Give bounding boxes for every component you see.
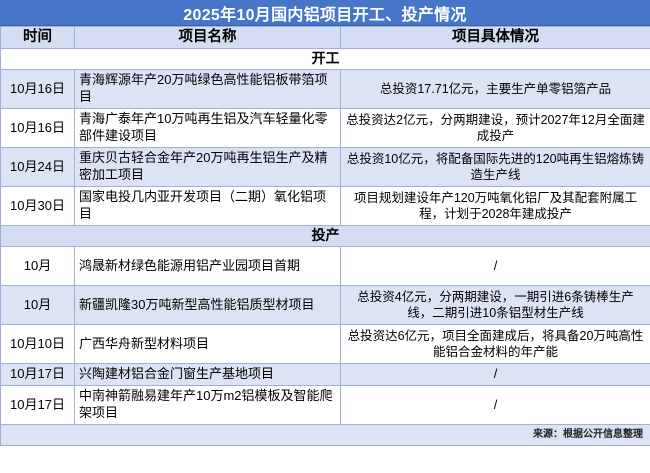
cell-project-detail: 总投资达2亿元，分两期建设，预计2027年12月全面建成投产 xyxy=(341,109,650,148)
cell-project-name: 国家电投几内亚开发项目（二期）氧化铝项目 xyxy=(75,187,341,226)
cell-time: 10月17日 xyxy=(1,364,75,386)
cell-project-detail: 总投资4亿元，分两期建设，一期引进6条铸棒生产线，二期引进10条铝型材生产线 xyxy=(341,286,650,325)
cell-project-detail: / xyxy=(341,364,650,386)
table-row: 10月10日 广西华舟新型材料项目 总投资达6亿元，项目全面建成后，将具备20万… xyxy=(1,325,650,364)
table-row: 10月 新疆凯隆30万吨新型高性能铝质型材项目 总投资4亿元，分两期建设，一期引… xyxy=(1,286,650,325)
section-header-start: 开工 xyxy=(1,49,650,70)
table-row: 10月17日 中南神箭融易建年产10万m2铝模板及智能爬架项目 / xyxy=(1,386,650,425)
cell-time: 10月24日 xyxy=(1,148,75,187)
column-header-time: 时间 xyxy=(1,27,75,49)
cell-project-name: 新疆凯隆30万吨新型高性能铝质型材项目 xyxy=(75,286,341,325)
cell-project-detail: / xyxy=(341,247,650,286)
table-row: 10月 鸿晟新材绿色能源用铝产业园项目首期 / xyxy=(1,247,650,286)
cell-project-name: 中南神箭融易建年产10万m2铝模板及智能爬架项目 xyxy=(75,386,341,425)
cell-project-name: 重庆贝古轻合金年产20万吨再生铝生产及精密加工项目 xyxy=(75,148,341,187)
section-label-production: 投产 xyxy=(1,226,650,247)
cell-time: 10月10日 xyxy=(1,325,75,364)
cell-time: 10月16日 xyxy=(1,70,75,109)
cell-project-detail: 总投资达6亿元，项目全面建成后，将具备20万吨高性能铝合金材料的年产能 xyxy=(341,325,650,364)
table-row: 10月17日 兴陶建材铝合金门窗生产基地项目 / xyxy=(1,364,650,386)
cell-project-name: 青海广泰年产10万吨再生铝及汽车轻量化零部件建设项目 xyxy=(75,109,341,148)
source-note: 来源：根据公开信息整理 xyxy=(1,425,650,446)
cell-project-name: 兴陶建材铝合金门窗生产基地项目 xyxy=(75,364,341,386)
table-row: 10月24日 重庆贝古轻合金年产20万吨再生铝生产及精密加工项目 总投资10亿元… xyxy=(1,148,650,187)
source-note-row: 来源：根据公开信息整理 xyxy=(1,425,650,446)
cell-project-detail: / xyxy=(341,386,650,425)
cell-project-detail: 项目规划建设年产120万吨氧化铝厂及其配套附属工程，计划于2028年建成投产 xyxy=(341,187,650,226)
column-header-name: 项目名称 xyxy=(75,27,341,49)
project-table: 时间 项目名称 项目具体情况 开工 10月16日 青海辉源年产20万吨绿色高性能… xyxy=(0,26,650,446)
cell-time: 10月17日 xyxy=(1,386,75,425)
cell-time: 10月 xyxy=(1,247,75,286)
table-header-row: 时间 项目名称 项目具体情况 xyxy=(1,27,650,49)
cell-project-name: 鸿晟新材绿色能源用铝产业园项目首期 xyxy=(75,247,341,286)
cell-time: 10月16日 xyxy=(1,109,75,148)
cell-project-detail: 总投资10亿元，将配备国际先进的120吨再生铝熔炼铸造生产线 xyxy=(341,148,650,187)
page-title: 2025年10月国内铝项目开工、投产情况 xyxy=(0,0,650,26)
table-body: 时间 项目名称 项目具体情况 开工 10月16日 青海辉源年产20万吨绿色高性能… xyxy=(1,27,650,446)
table-row: 10月30日 国家电投几内亚开发项目（二期）氧化铝项目 项目规划建设年产120万… xyxy=(1,187,650,226)
table-row: 10月16日 青海广泰年产10万吨再生铝及汽车轻量化零部件建设项目 总投资达2亿… xyxy=(1,109,650,148)
cell-project-name: 青海辉源年产20万吨绿色高性能铝板带箔项目 xyxy=(75,70,341,109)
cell-time: 10月30日 xyxy=(1,187,75,226)
infographic-table-page: 2025年10月国内铝项目开工、投产情况 时间 项目名称 项目具体情况 开工 1… xyxy=(0,0,650,473)
cell-project-detail: 总投资17.71亿元，主要生产单零铝箔产品 xyxy=(341,70,650,109)
cell-project-name: 广西华舟新型材料项目 xyxy=(75,325,341,364)
cell-time: 10月 xyxy=(1,286,75,325)
table-row: 10月16日 青海辉源年产20万吨绿色高性能铝板带箔项目 总投资17.71亿元，… xyxy=(1,70,650,109)
column-header-detail: 项目具体情况 xyxy=(341,27,650,49)
section-header-production: 投产 xyxy=(1,226,650,247)
section-label-start: 开工 xyxy=(1,49,650,70)
